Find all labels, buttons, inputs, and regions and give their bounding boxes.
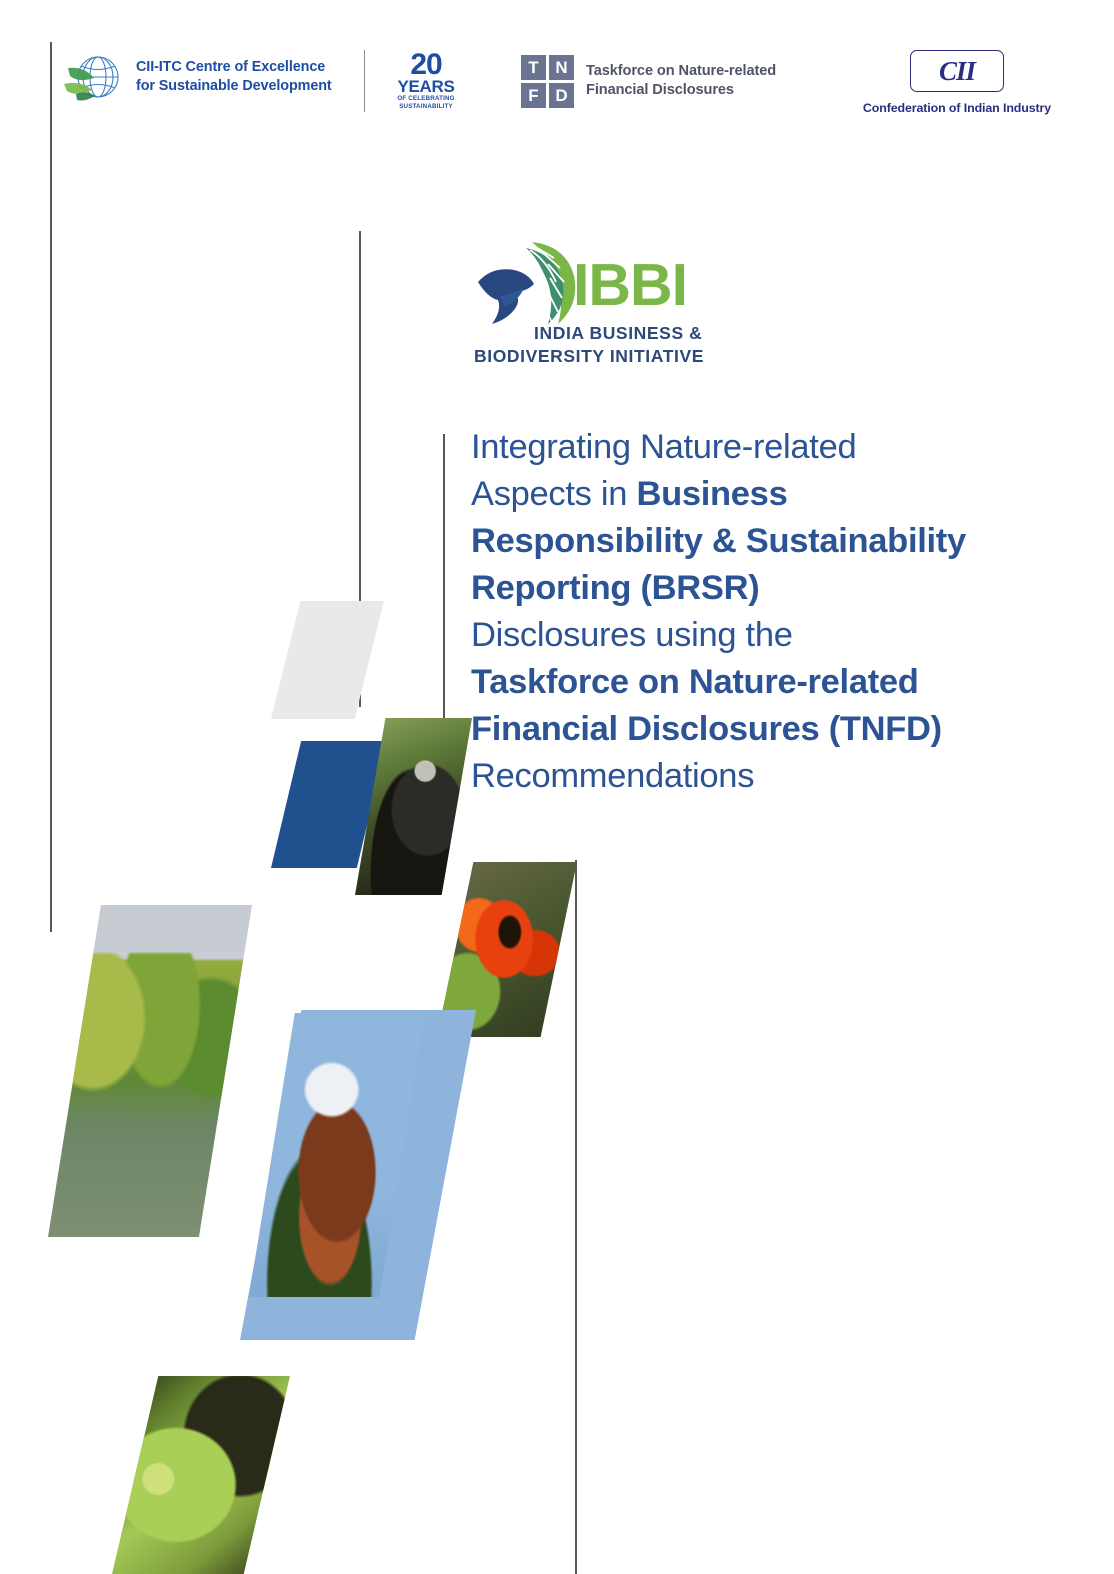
page-title-run: Taskforce on Nature-related <box>471 663 919 701</box>
tnfd-cell-t: T <box>521 55 546 80</box>
coe-line2: for Sustainable Development <box>136 77 362 96</box>
page-title-line-8: Recommendations <box>471 753 1016 800</box>
collage-tile-water-fern-photo <box>112 1376 290 1574</box>
page-title-line-3: Responsibility & Sustainability <box>471 518 1016 565</box>
cii-itc-coe-wordmark: CII-ITC Centre of Excellence for Sustain… <box>136 58 362 96</box>
tnfd-logo: T N F D Taskforce on Nature-related Fina… <box>521 52 776 110</box>
globe-leaf-icon <box>62 52 124 108</box>
page-title-run: Reporting (BRSR) <box>471 569 759 607</box>
page-title-run: Recommendations <box>471 757 754 795</box>
ibbi-logo: IBBI INDIA BUSINESS & BIODIVERSITY INITI… <box>470 238 710 378</box>
tnfd-cell-d: D <box>549 83 574 108</box>
years-sub1: OF CELEBRATING <box>385 95 467 103</box>
tnfd-letter-grid: T N F D <box>521 55 574 108</box>
collage-tile-gray-rhombus <box>271 601 384 719</box>
vertical-rule-left <box>50 42 52 932</box>
collage-tile-mangrove-photo <box>48 905 252 1237</box>
page-title-run: Business <box>636 475 787 513</box>
header-logo-bar: CII-ITC Centre of Excellence for Sustain… <box>0 0 1114 140</box>
cii-caption: Confederation of Indian Industry <box>862 101 1052 115</box>
logo-divider <box>364 50 365 112</box>
twenty-years-logo: 20 YEARS OF CELEBRATING SUSTAINABILITY <box>385 52 467 114</box>
coe-line1: CII-ITC Centre of Excellence <box>136 58 362 77</box>
page-title-line-1: Integrating Nature-related <box>471 424 1016 471</box>
years-sub2: SUSTAINABILITY <box>385 103 467 111</box>
page-title-line-5: Disclosures using the <box>471 612 1016 659</box>
page-title-line-6: Taskforce on Nature-related <box>471 659 1016 706</box>
tnfd-cell-f: F <box>521 83 546 108</box>
tnfd-wordmark: Taskforce on Nature-related Financial Di… <box>586 62 776 101</box>
page-title-line-4: Reporting (BRSR) <box>471 565 1016 612</box>
cii-letters: CII <box>939 58 975 85</box>
cii-itc-coe-logo: CII-ITC Centre of Excellence for Sustain… <box>62 48 362 112</box>
page-title-line-7: Financial Disclosures (TNFD) <box>471 706 1016 753</box>
tnfd-line2: Financial Disclosures <box>586 81 776 100</box>
page-title-run: Integrating Nature-related <box>471 428 856 466</box>
page-title: Integrating Nature-relatedAspects in Bus… <box>471 424 1016 800</box>
ibbi-wordmark: IBBI <box>573 256 687 315</box>
years-number: 20 <box>385 52 467 78</box>
ibbi-subtitle-line2: BIODIVERSITY INITIATIVE <box>474 346 704 367</box>
page-title-run: Disclosures using the <box>471 616 793 654</box>
page-title-run: Financial Disclosures (TNFD) <box>471 710 942 748</box>
tnfd-line1: Taskforce on Nature-related <box>586 62 776 81</box>
cii-logo-box: CII <box>910 50 1004 92</box>
cover-page: CII-ITC Centre of Excellence for Sustain… <box>0 0 1114 1574</box>
page-title-line-2: Aspects in Business <box>471 471 1016 518</box>
page-title-run: Aspects in <box>471 475 636 513</box>
vertical-rule-right <box>575 860 577 1574</box>
ibbi-subtitle-line1: INDIA BUSINESS & <box>534 323 702 344</box>
cii-logo: CII Confederation of Indian Industry <box>862 50 1052 115</box>
tnfd-cell-n: N <box>549 55 574 80</box>
page-title-run: Responsibility & Sustainability <box>471 522 966 560</box>
